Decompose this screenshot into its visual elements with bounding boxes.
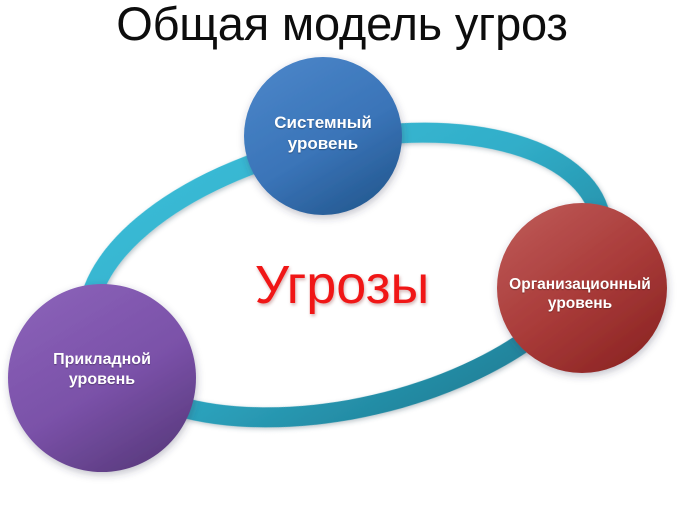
node-system[interactable] — [244, 57, 402, 215]
slide-canvas: Общая модель угроз — [0, 0, 684, 522]
node-applied[interactable] — [8, 284, 196, 472]
teal-ring-front — [443, 336, 455, 377]
center-label-threats: Угрозы — [182, 256, 502, 314]
node-organizational[interactable] — [497, 203, 667, 373]
